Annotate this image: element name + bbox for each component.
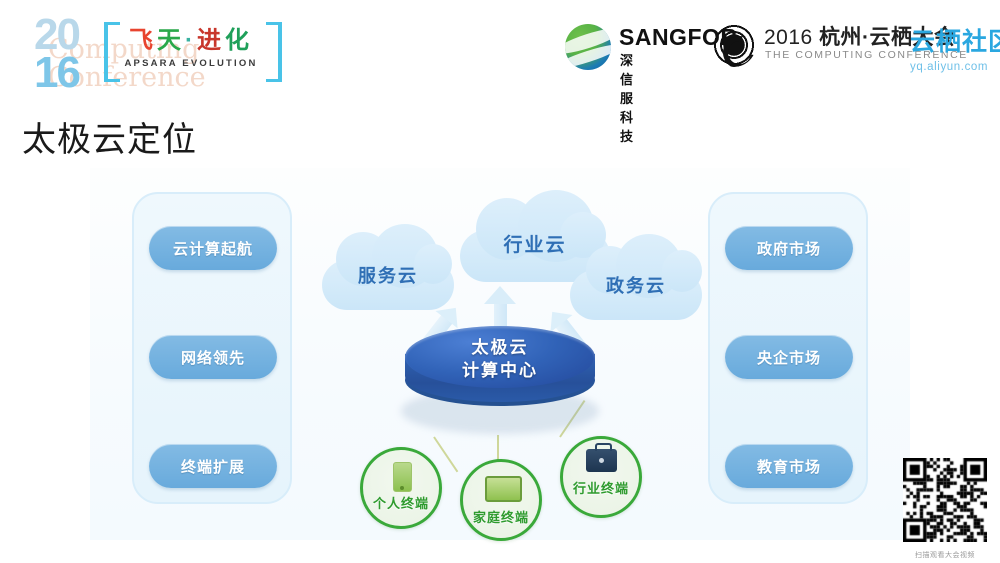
briefcase-icon [586,449,617,472]
apsara-year: 20 16 [34,16,79,92]
cloud-industry-label: 行业云 [503,230,566,257]
market-pill-1[interactable]: 央企市场 [725,335,853,379]
cloud-service-label: 服务云 [358,262,418,288]
center-label: 太极云计算中心 [405,336,595,382]
capability-pill-1[interactable]: 网络领先 [149,335,277,379]
qr-code-icon [903,458,987,542]
apsara-2016-logo: Computing Conference 20 16 飞天·进化 APSARA … [20,14,280,94]
yunqi-url: yq.aliyun.com [910,61,1000,73]
terminal-personal[interactable]: 个人终端 [360,447,442,529]
capability-pill-2[interactable]: 终端扩展 [149,444,277,488]
slide-header: Computing Conference 20 16 飞天·进化 APSARA … [0,0,1000,100]
market-pill-0[interactable]: 政府市场 [725,226,853,270]
page-title: 太极云定位 [22,112,197,161]
computing-conference-mark-icon [712,23,756,67]
terminal-industry-label: 行业终端 [557,478,645,497]
terminal-home-label: 家庭终端 [457,507,545,526]
globe-icon [565,24,611,70]
qr-caption: 扫描观看大会视频 [903,550,987,560]
capability-pill-0[interactable]: 云计算起航 [149,226,277,270]
sangfor-cn-name: 深信服科技 [620,50,634,145]
market-pill-2[interactable]: 教育市场 [725,444,853,488]
terminal-industry[interactable]: 行业终端 [560,436,642,518]
cloud-government[interactable]: 政务云 [570,234,702,322]
cloud-service[interactable]: 服务云 [322,224,454,312]
taiji-cloud-computing-center[interactable]: 太极云计算中心 [405,326,595,434]
capability-panel: 云计算起航 网络领先 终端扩展 [132,192,292,504]
taiji-cloud-diagram: 云计算起航 网络领先 终端扩展 政府市场 央企市场 教育市场 服务云 行业云 政… [90,168,910,540]
terminal-personal-label: 个人终端 [357,493,445,512]
qr-code-block: 扫描观看大会视频 [903,458,987,558]
yunqi-name: 云栖社区 [910,22,1000,58]
tv-icon [485,476,522,502]
market-panel: 政府市场 央企市场 教育市场 [708,192,868,504]
apsara-en-title: APSARA EVOLUTION [110,58,272,69]
connector-line-0 [433,436,458,472]
phone-icon [393,462,412,492]
terminal-home[interactable]: 家庭终端 [460,459,542,541]
apsara-cn-title: 飞天·进化 [116,28,266,54]
cloud-government-label: 政务云 [606,272,666,298]
yunqi-community-logo: 云栖社区 yq.aliyun.com [910,22,1000,73]
